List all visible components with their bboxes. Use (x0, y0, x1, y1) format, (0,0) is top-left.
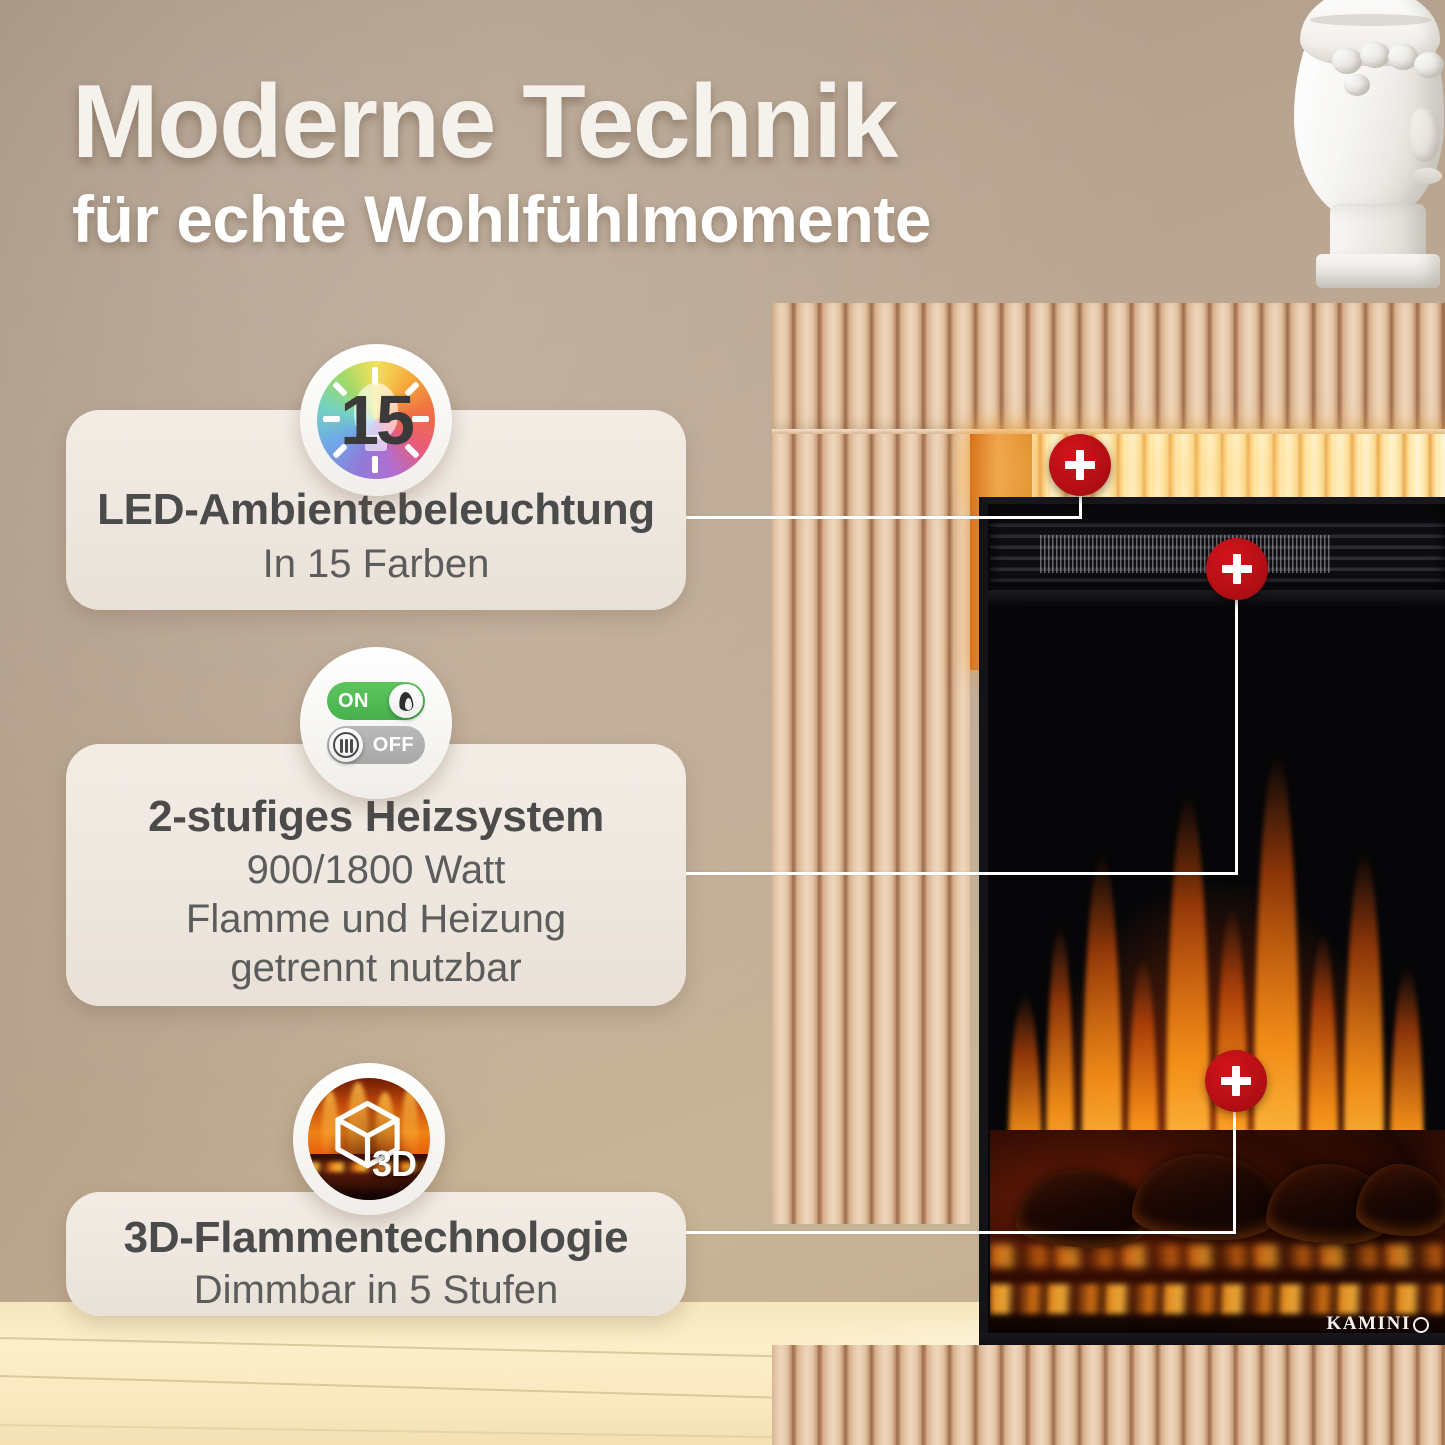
color-count-value: 15 (340, 385, 412, 455)
feature-subtitle: In 15 Farben (66, 536, 686, 592)
toggle-knob-heat (329, 728, 363, 762)
3d-label: 3D (372, 1146, 416, 1182)
toggle-off-label: OFF (373, 734, 414, 757)
connector-line-heating (686, 872, 1237, 875)
connector-line-flame (686, 1231, 1235, 1234)
connector-line-led (686, 516, 1082, 519)
headline-block: Moderne Technik für echte Wohlfühlmoment… (72, 74, 1092, 258)
classical-bust-statue-decor (1286, 0, 1445, 294)
connector-line-heating-vertical (1235, 570, 1238, 875)
lower-slatted-panel (772, 1345, 1445, 1445)
3d-flame-cube-icon: 3D (293, 1063, 445, 1215)
toggle-on-label: ON (338, 690, 369, 713)
infographic-stage: KAMINI Moderne Technik für echte Wohlfüh… (0, 0, 1445, 1445)
toggle-switch-off: OFF (327, 726, 425, 764)
headline-secondary: für echte Wohlfühlmomente (72, 180, 1092, 258)
firebox-frame (979, 497, 1445, 1340)
hotspot-heater-vent[interactable] (1206, 538, 1268, 600)
rainbow-15-colors-icon: 15 (300, 344, 452, 496)
headline-primary: Moderne Technik (72, 74, 1092, 170)
plus-icon (1065, 450, 1095, 480)
toggle-switch-on: ON (327, 682, 425, 720)
plus-icon (1221, 1066, 1251, 1096)
feature-subtitle-line-2: Flamme und Heizung (66, 895, 686, 944)
hotspot-flame-bed[interactable] (1205, 1050, 1267, 1112)
on-off-toggle-icon: ON OFF (300, 647, 452, 799)
flame-icon (396, 690, 416, 712)
heat-waves-icon (333, 732, 359, 758)
left-slatted-pillar (772, 434, 970, 1224)
hotspot-led-strip[interactable] (1049, 434, 1111, 496)
toggle-knob-flame (389, 684, 423, 718)
plus-icon (1222, 554, 1252, 584)
feature-subtitle-line-3: getrennt nutzbar (66, 944, 686, 993)
slatted-wood-mantel (772, 303, 1445, 431)
feature-title: 3D-Flammentechnologie (66, 1212, 686, 1264)
feature-subtitle: Dimmbar in 5 Stufen (66, 1264, 686, 1316)
feature-subtitle-line-1: 900/1800 Watt (66, 846, 686, 895)
led-glow-strip (970, 434, 1445, 498)
